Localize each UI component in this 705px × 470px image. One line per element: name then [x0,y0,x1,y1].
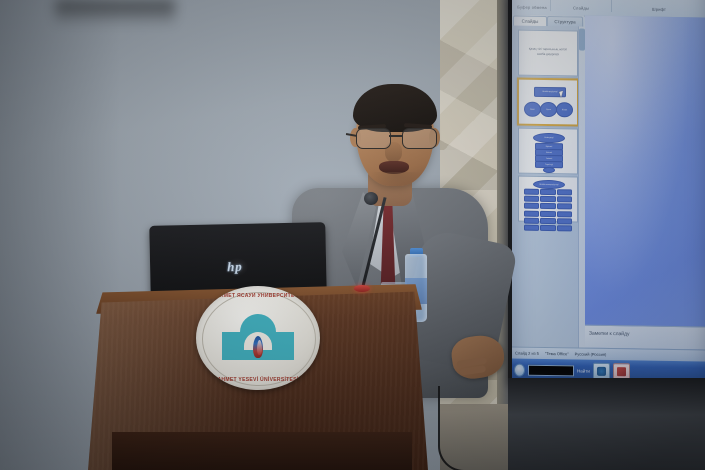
university-emblem: АХМЕТ ЯСАУИ УНИВЕРСИТЕТІ AHMET YESEVİ ÜN… [196,286,320,390]
slide-4-cell [540,196,555,202]
slide-4-cell [540,189,555,195]
notes-placeholder: Заметки к слайду [589,331,630,338]
eyeglass-lens-left [356,128,391,149]
slide-thumbnail-2[interactable]: Жазба дәуірлері Көне Орта Жаңа [517,78,579,127]
media-player-icon[interactable] [593,362,610,379]
slide-2-node-1: Көне [524,102,541,117]
slide-4-grid [524,189,572,232]
slide-1-title: Қазақ тілі тарихының негізгі жазба дәуір… [525,47,571,58]
taskbar-search-button[interactable]: Найти [577,368,590,373]
eyeglass-lens-right [402,128,437,149]
emblem-text-cyrillic: АХМЕТ ЯСАУИ УНИВЕРСИТЕТІ [201,293,315,299]
slide-4-cell [540,225,555,231]
ribbon-group-slides[interactable]: Создать слайд Восстановить Удалить Слайд… [551,0,612,12]
slide-2-node-3-label: Жаңа [557,103,572,116]
mausoleum-icon [222,314,294,360]
thumbnail-scrollbar[interactable] [578,26,585,347]
ribbon-group-clipboard-label: Буфер обмена [514,4,550,11]
slide-2-node-1-label: Көне [525,103,540,116]
lectern-base [112,432,412,470]
ribbon-group-font[interactable]: Ж К Ч abc S AV Aa A Шрифт [612,0,705,14]
slide-3-header: Кезеңдері [533,133,565,144]
notes-pane[interactable]: Заметки к слайду [585,325,705,350]
hp-logo-letter-p: p [235,260,242,273]
slide-4-cell [557,211,572,217]
slide-4-cell [524,196,539,202]
slide-4-cell [524,225,539,231]
projector-glare [585,16,705,350]
chin-shadow [370,172,422,190]
slide-4-cell [557,218,572,224]
taskbar-search-input[interactable] [528,364,574,376]
screen-lower-frame [508,378,705,470]
slide-thumbnail-4[interactable]: Жазба ескерткіштері [518,176,578,223]
slide-editing-area[interactable] [585,16,705,350]
power-cable [438,386,480,470]
hp-logo-letter-h: h [227,260,235,273]
slide-4-cell [540,203,555,209]
hp-logo-icon: h p [226,258,248,276]
ribbon-group-clipboard[interactable]: Вставить Буфер обмена [514,0,551,11]
slide-2-node-2-label: Орта [541,103,556,116]
slide-4-cell [524,217,539,223]
flame-inner-icon [257,340,262,355]
slide-4-cell [557,196,572,202]
slide-2-node-2: Орта [540,102,557,117]
emblem-text-latin: AHMET YESEVİ ÜNİVERSİTESİ [201,377,315,383]
status-theme: "Тема Office" [545,351,569,356]
slide-4-cell [524,203,539,209]
status-language[interactable]: Русский (Россия) [575,351,607,356]
eyeglass-bridge [389,135,402,137]
microphone-head [364,192,378,205]
slide-4-cell [557,204,572,210]
slide-4-header-label: Жазба ескерткіштері [534,181,564,188]
slide-4-cell [540,218,555,224]
slide-4-cell [557,189,572,195]
browser-e-icon[interactable] [514,363,525,376]
slide-4-cell [540,210,555,216]
slide-2-node-3: Жаңа [556,102,573,117]
slide-4-cell [524,189,539,195]
slide-3-end-node [543,167,555,173]
microphone-indicator-light [354,285,370,292]
ceiling-shadow [55,0,175,26]
powerpoint-window[interactable]: Вставить Буфер обмена Создать слайд Восс… [512,0,705,384]
slide-4-cell [524,210,539,216]
slide-thumbnail-pane[interactable]: Қазақ тілі тарихының негізгі жазба дәуір… [512,25,584,347]
status-slide-number: Слайд 2 из 5 [515,351,539,356]
ribbon-group-font-label: Шрифт [612,6,705,13]
lecture-hall-photo: Вставить Буфер обмена Создать слайд Восс… [0,0,705,470]
slide-thumbnail-1[interactable]: Қазақ тілі тарихының негізгі жазба дәуір… [518,30,578,77]
slide-thumbnail-3[interactable]: Кезеңдері Бірінші Екінші Үшінші Төртінші [518,128,578,175]
slide-3-header-label: Кезеңдері [534,134,564,142]
slide-4-header: Жазба ескерткіштері [533,180,565,190]
laptop-lid: h p [149,222,326,298]
eyeglasses [352,128,442,148]
ribbon-group-slides-label: Слайды [551,5,611,12]
slide-4-cell [557,225,572,231]
